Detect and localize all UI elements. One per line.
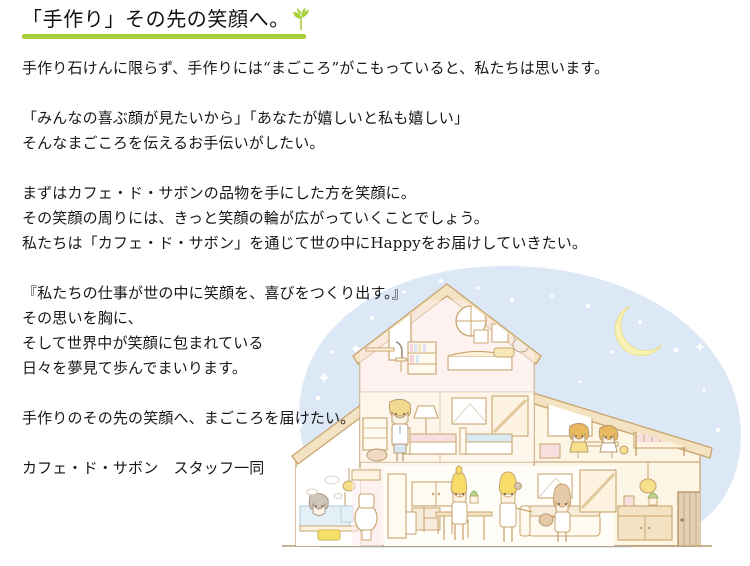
paragraph-4-line-1: 『私たちの仕事が世の中に笑顔を、喜びをつくり出す。』 [22, 281, 407, 306]
right-wing-roof [528, 392, 712, 458]
bedroom-lamp [414, 406, 438, 436]
entrance [618, 462, 710, 552]
signature-line-1: カフェ・ド・サボン スタッフ一同 [22, 456, 264, 481]
cat-figure [513, 335, 529, 352]
sideboard [412, 482, 460, 506]
bathtub [300, 506, 350, 528]
paragraph-3-line-1: まずはカフェ・ド・サボンの品物を手にした方を笑顔に。 [22, 181, 587, 206]
person-mother [451, 466, 467, 540]
page-heading: 「手作り」その先の笑顔へ。 [22, 6, 310, 39]
crescent-moon-icon [615, 306, 662, 355]
bed-left [404, 428, 456, 454]
living-closet [580, 470, 616, 512]
person-father [499, 472, 532, 542]
bathroom-pendant-light [343, 468, 355, 491]
sprout-icon [292, 7, 310, 31]
wall-art [538, 474, 572, 498]
round-window [456, 306, 486, 336]
bunk-bed [634, 400, 686, 456]
bed-right [460, 428, 512, 454]
right-wing-wall [534, 400, 700, 546]
shower-fixture [341, 492, 353, 522]
steam-icon [307, 476, 342, 499]
bath-stool [318, 530, 340, 540]
paragraph-4: 『私たちの仕事が世の中に笑顔を、喜びをつくり出す。』 その思いを胸に、 そして世… [22, 281, 407, 381]
person-boy [389, 399, 410, 461]
paragraph-3: まずはカフェ・ド・サボンの品物を手にした方を笑顔に。 その笑顔の周りには、きっと… [22, 181, 587, 256]
paragraph-5: 手作りのその先の笑顔へ、まごころを届けたい。 [22, 406, 355, 431]
entrance-pendant-light [640, 462, 656, 493]
toilet [352, 468, 382, 546]
signature: カフェ・ド・サボン スタッフ一同 [22, 456, 264, 481]
living-cabinet [388, 474, 406, 538]
bathroom [296, 468, 382, 546]
sofa [520, 506, 600, 536]
person-in-bath [309, 494, 328, 516]
paragraph-3-line-3: 私たちは「カフェ・ド・サボン」を通じて世の中にHappyをお届けしていきたい。 [22, 231, 587, 256]
dining-chairs [424, 506, 468, 538]
paragraph-1: 手作り石けんに限らず、手作りには“まごころ”がこもっていると、私たちは思います。 [22, 56, 609, 81]
paragraph-5-line-1: 手作りのその先の笑顔へ、まごころを届けたい。 [22, 406, 355, 431]
dining-table [436, 512, 492, 516]
living-dining-room [384, 466, 616, 546]
page-title: 「手作り」その先の笑顔へ。 [22, 6, 290, 32]
attic-bookshelf [408, 342, 436, 374]
potted-plant [470, 491, 478, 503]
paragraph-3-line-2: その笑顔の周りには、きっと笑顔の輪が広がっていくことでしょう。 [22, 206, 587, 231]
pink-storage-box [540, 444, 560, 458]
paragraph-2: 「みんなの喜ぶ顔が見たいから」「あなたが嬉しいと私も嬉しい」 そんなまごころを伝… [22, 106, 469, 156]
kids-room [540, 400, 686, 458]
left-wing-wall [296, 414, 360, 546]
heading-underline [22, 34, 306, 39]
paragraph-2-line-2: そんなまごころを伝えるお手伝いがしたい。 [22, 131, 469, 156]
bedroom-closet [492, 396, 528, 436]
kids-window [548, 400, 592, 436]
entrance-plant [648, 493, 658, 505]
paragraph-2-line-1: 「みんなの喜ぶ顔が見たいから」「あなたが嬉しいと私も嬉しい」 [22, 106, 469, 131]
paragraph-4-line-2: その思いを胸に、 [22, 306, 407, 331]
paragraph-4-line-4: 日々を夢見て歩んでまいります。 [22, 356, 407, 381]
bedroom-window [452, 398, 486, 424]
shoe-cabinet [618, 506, 672, 540]
bedroom [360, 392, 534, 462]
bedroom-dresser [363, 418, 387, 450]
person-girl-2 [599, 425, 618, 452]
person-girl-1 [569, 423, 589, 452]
attic-bed [448, 356, 512, 370]
kids-table [572, 442, 618, 446]
paragraph-4-line-3: そして世界中が笑顔に包まれている [22, 331, 407, 356]
front-door [678, 492, 706, 546]
person-girl-3 [539, 484, 571, 542]
paragraph-1-line-1: 手作り石けんに限らず、手作りには“まごころ”がこもっていると、私たちは思います。 [22, 56, 609, 81]
